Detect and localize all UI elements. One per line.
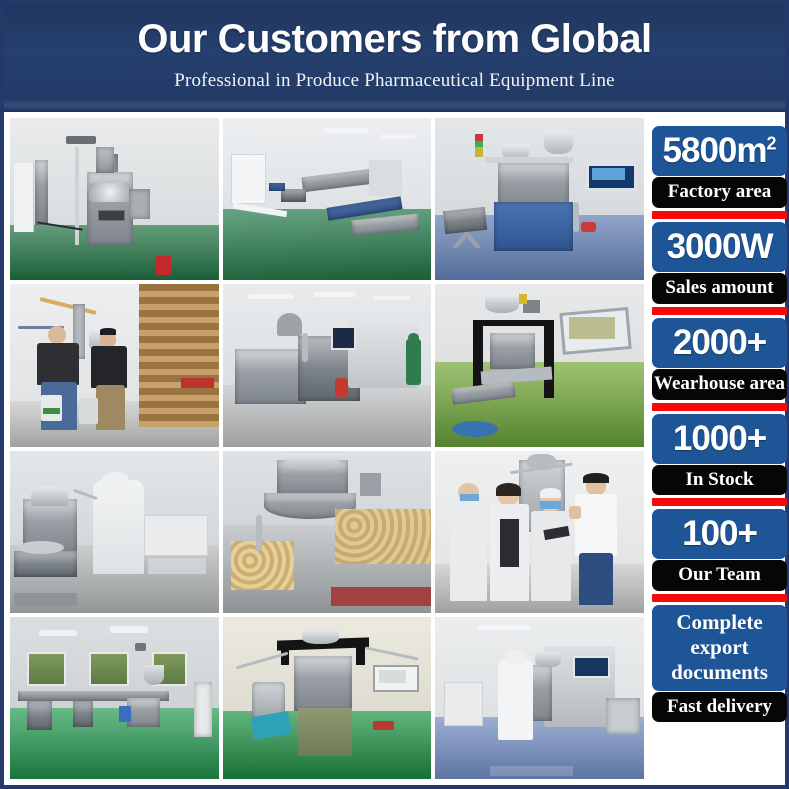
stat-divider-3: [652, 403, 787, 411]
banner-header: Our Customers from Global Professional i…: [4, 4, 785, 112]
stat-block-wearhouse-area: 2000+ Wearhouse area: [652, 318, 787, 400]
stat-label-wearhouse-area: Wearhouse area: [652, 369, 787, 400]
stats-sidebar: 5800m2 Factory area 3000W Sales amount 2…: [649, 118, 789, 779]
stat-text-export-documents: Complete export documents: [652, 605, 787, 690]
stat-label-fast-delivery: Fast delivery: [652, 692, 787, 723]
stat-value-our-team: 100+: [652, 509, 787, 559]
page-title: Our Customers from Global: [4, 18, 785, 60]
promo-banner: Our Customers from Global Professional i…: [0, 0, 789, 789]
gallery-photo-9: [435, 451, 644, 613]
photo-gallery: [10, 118, 644, 779]
stat-divider-1: [652, 211, 787, 219]
gallery-photo-5: [223, 284, 432, 446]
gallery-photo-8: [223, 451, 432, 613]
photo-6-image: [435, 284, 644, 446]
gallery-photo-11: [223, 617, 432, 779]
photo-12-image: [435, 617, 644, 779]
stat-label-sales-amount: Sales amount: [652, 273, 787, 304]
stat-value-in-stock: 1000+: [652, 414, 787, 464]
gallery-photo-7: [10, 451, 219, 613]
page-subtitle: Professional in Produce Pharmaceutical E…: [4, 70, 785, 92]
gallery-photo-3: [435, 118, 644, 280]
photo-2-image: [223, 118, 432, 280]
stat-value-wearhouse-area: 2000+: [652, 318, 787, 368]
stat-divider-5: [652, 594, 787, 602]
stat-label-in-stock: In Stock: [652, 465, 787, 496]
stat-value-factory-area: 5800m2: [652, 126, 787, 176]
photo-5-image: [223, 284, 432, 446]
gallery-photo-2: [223, 118, 432, 280]
gallery-photo-4: [10, 284, 219, 446]
banner-body: 5800m2 Factory area 3000W Sales amount 2…: [4, 112, 785, 785]
photo-4-image: [10, 284, 219, 446]
stat-divider-2: [652, 307, 787, 315]
stat-value-sales-amount: 3000W: [652, 222, 787, 272]
photo-1-image: [10, 118, 219, 280]
stat-label-our-team: Our Team: [652, 560, 787, 591]
stat-divider-4: [652, 498, 787, 506]
stat-block-our-team: 100+ Our Team: [652, 509, 787, 591]
stat-block-export-documents: Complete export documents Fast delivery: [652, 605, 787, 722]
gallery-photo-6: [435, 284, 644, 446]
photo-8-image: [223, 451, 432, 613]
stat-block-in-stock: 1000+ In Stock: [652, 414, 787, 496]
photo-10-image: [10, 617, 219, 779]
gallery-photo-1: [10, 118, 219, 280]
stat-block-sales-amount: 3000W Sales amount: [652, 222, 787, 304]
photo-11-image: [223, 617, 432, 779]
gallery-photo-10: [10, 617, 219, 779]
gallery-photo-12: [435, 617, 644, 779]
photo-7-image: [10, 451, 219, 613]
stat-block-factory-area: 5800m2 Factory area: [652, 126, 787, 208]
photo-9-image: [435, 451, 644, 613]
photo-3-image: [435, 118, 644, 280]
stat-label-factory-area: Factory area: [652, 177, 787, 208]
